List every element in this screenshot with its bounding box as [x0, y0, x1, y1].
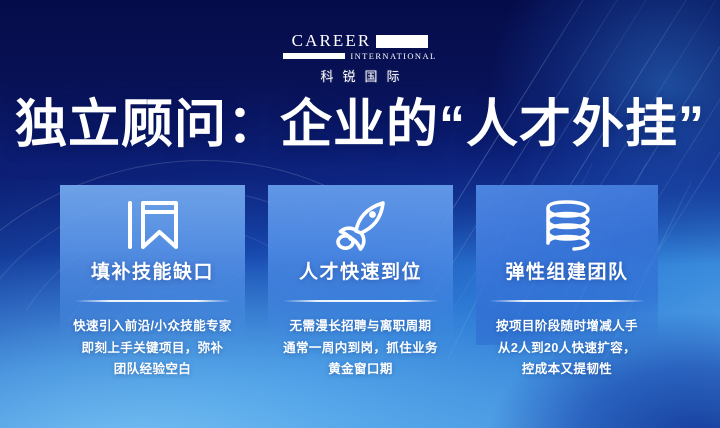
- logo-wordmark: CAREER: [292, 32, 372, 49]
- feature-card-title: 弹性组建团队: [476, 257, 658, 284]
- logo-block-mark-icon: [376, 35, 428, 48]
- description-line: 从2人到20人快速扩容，: [476, 338, 658, 360]
- feature-card-list: 填补技能缺口 快速引入前沿/小众技能专家 即刻上手关键项目，弥补 团队经验空白 …: [60, 185, 660, 345]
- feature-card-fast-placement: 人才快速到位 无需漫长招聘与离职周期 通常一周内到岗，抓住业务 黄金窗口期: [268, 185, 453, 345]
- description-line: 黄金窗口期: [268, 359, 453, 381]
- description-line: 无需漫长招聘与离职周期: [268, 316, 453, 338]
- logo-bar-mark-icon: [283, 53, 345, 59]
- spring-coil-icon: [476, 185, 658, 251]
- feature-card-description: 按项目阶段随时增减人手 从2人到20人快速扩容， 控成本又提韧性: [476, 316, 658, 381]
- description-line: 控成本又提韧性: [476, 359, 658, 381]
- description-line: 按项目阶段随时增减人手: [476, 316, 658, 338]
- description-line: 即刻上手关键项目，弥补: [60, 338, 245, 360]
- feature-card-flexible-team: 弹性组建团队 按项目阶段随时增减人手 从2人到20人快速扩容， 控成本又提韧性: [476, 185, 658, 345]
- feature-card-title: 人才快速到位: [268, 257, 453, 284]
- description-line: 通常一周内到岗，抓住业务: [268, 338, 453, 360]
- feature-card-description: 无需漫长招聘与离职周期 通常一周内到岗，抓住业务 黄金窗口期: [268, 316, 453, 381]
- bookmark-icon: [60, 185, 245, 251]
- feature-card-title: 填补技能缺口: [60, 257, 245, 284]
- description-line: 快速引入前沿/小众技能专家: [60, 316, 245, 338]
- slide-canvas: CAREER INTERNATIONAL 科锐国际 独立顾问：企业的“人才外挂”…: [0, 0, 720, 428]
- feature-card-divider: [75, 300, 231, 302]
- brand-logo: CAREER INTERNATIONAL 科锐国际: [0, 32, 720, 85]
- feature-card-divider: [489, 300, 645, 302]
- rocket-icon: [268, 185, 453, 251]
- feature-card-divider: [283, 300, 439, 302]
- logo-secondary-row: INTERNATIONAL: [283, 52, 436, 61]
- logo-subwordmark: INTERNATIONAL: [350, 52, 436, 61]
- feature-card-skill-gap: 填补技能缺口 快速引入前沿/小众技能专家 即刻上手关键项目，弥补 团队经验空白: [60, 185, 245, 345]
- feature-card-description: 快速引入前沿/小众技能专家 即刻上手关键项目，弥补 团队经验空白: [60, 316, 245, 381]
- description-line: 团队经验空白: [60, 359, 245, 381]
- logo-chinese-name: 科锐国际: [311, 66, 408, 85]
- logo-primary-row: CAREER: [292, 32, 429, 49]
- page-title: 独立顾问：企业的“人才外挂”: [0, 97, 720, 153]
